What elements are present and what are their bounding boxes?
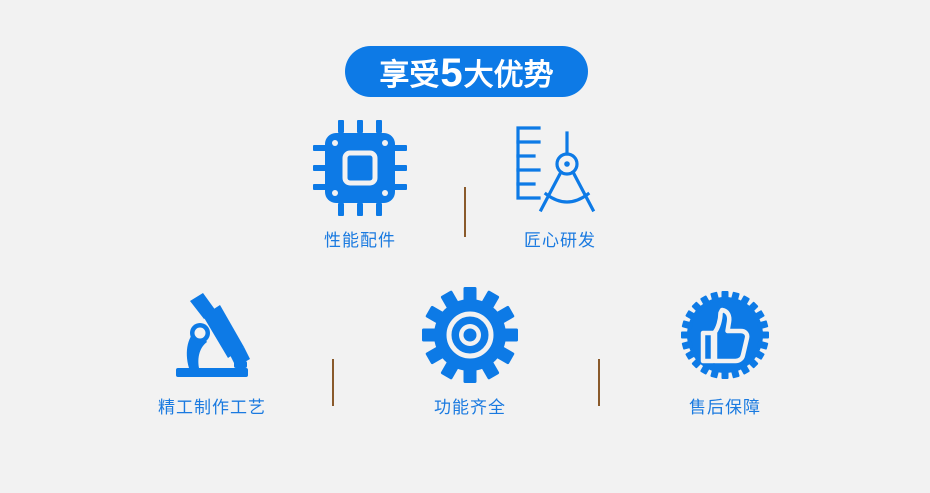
feature-full-featured: 功能齐全 bbox=[385, 285, 555, 418]
thumbs-up-badge-icon-wrap bbox=[640, 285, 810, 385]
headline-number: 5 bbox=[439, 53, 463, 93]
divider-top bbox=[464, 187, 466, 237]
divider-bottom-right bbox=[598, 359, 600, 406]
cpu-chip-icon-wrap bbox=[275, 118, 445, 218]
headline-banner: 享受5大优势 bbox=[345, 46, 588, 97]
thumbs-up-badge-icon bbox=[673, 285, 777, 385]
compass-hinge-dot bbox=[564, 161, 570, 167]
cpu-chip-icon bbox=[308, 118, 412, 218]
feature-label-performance-parts: 性能配件 bbox=[275, 226, 445, 251]
badge-starburst bbox=[681, 291, 769, 379]
microscope-icon-wrap bbox=[127, 285, 297, 385]
feature-performance-parts: 性能配件 bbox=[275, 118, 445, 251]
headline-suffix: 大优势 bbox=[464, 61, 554, 91]
feature-fine-manufacturing: 精工制作工艺 bbox=[127, 285, 297, 418]
feature-after-sales: 售后保障 bbox=[640, 285, 810, 418]
gear-icon-wrap bbox=[385, 285, 555, 385]
headline-prefix: 享受 bbox=[379, 61, 439, 91]
feature-label-fine-manufacturing: 精工制作工艺 bbox=[127, 393, 297, 418]
ruler-compass-icon bbox=[508, 118, 612, 218]
promo-banner-page: 享受5大优势 bbox=[0, 0, 930, 493]
divider-bottom-left bbox=[332, 359, 334, 406]
feature-craftsmanship-rnd: 匠心研发 bbox=[475, 118, 645, 251]
headline-text: 享受5大优势 bbox=[379, 52, 553, 92]
feature-label-after-sales: 售后保障 bbox=[640, 393, 810, 418]
feature-label-full-featured: 功能齐全 bbox=[385, 393, 555, 418]
ruler-compass-icon-wrap bbox=[475, 118, 645, 218]
microscope-icon bbox=[160, 285, 264, 385]
gear-icon bbox=[418, 285, 522, 385]
feature-label-craftsmanship-rnd: 匠心研发 bbox=[475, 226, 645, 251]
microscope-focus-knob bbox=[195, 328, 206, 339]
